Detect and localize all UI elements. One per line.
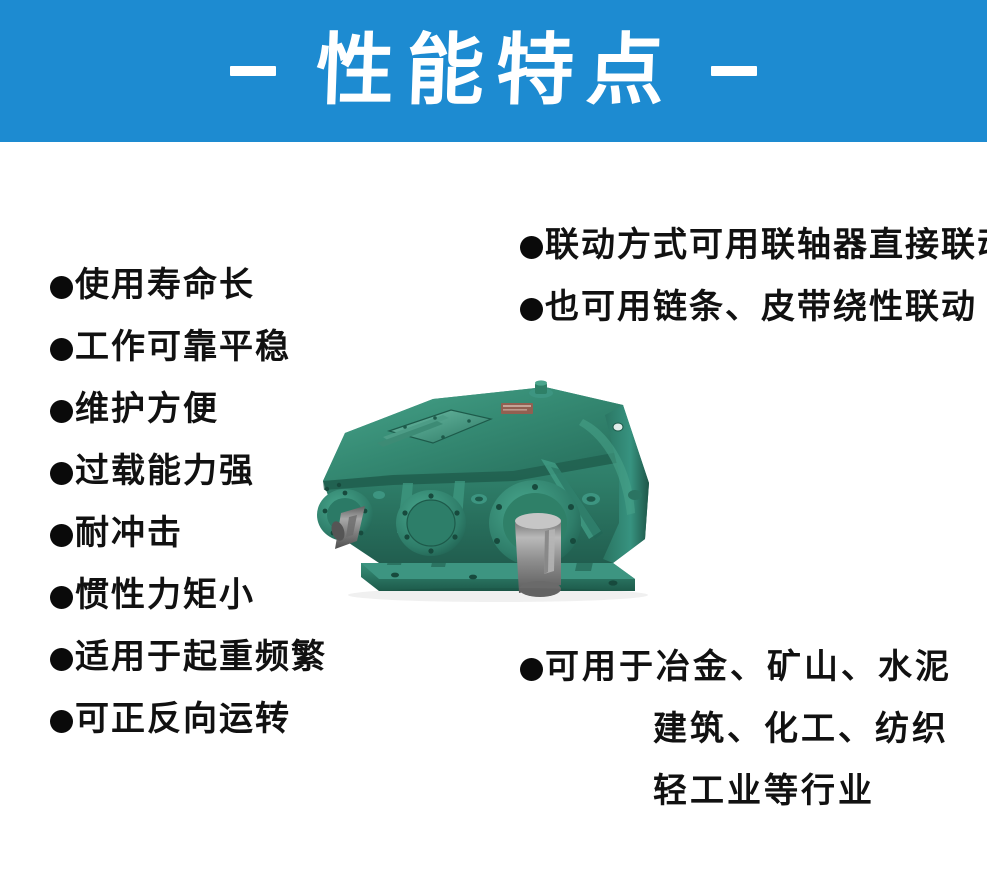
- feature-label: 惯性力矩小: [75, 578, 255, 612]
- gearbox-output-shaft: [515, 513, 561, 597]
- feature-label: 联动方式可用联轴器直接联动: [545, 228, 987, 262]
- gearbox-illustration: [283, 363, 683, 608]
- feature-label: 使用寿命长: [75, 268, 255, 302]
- bullet-icon: [520, 236, 543, 259]
- feature-label: 过载能力强: [75, 454, 255, 488]
- application-label: 轻工业等行业: [653, 774, 875, 808]
- bullet-icon: [50, 276, 73, 299]
- banner-dash-right: [711, 66, 757, 76]
- bullet-icon: [50, 524, 73, 547]
- bullet-icon: [50, 648, 73, 671]
- features-right-column: 联动方式可用联轴器直接联动 也可用链条、皮带绕性联动: [520, 228, 980, 348]
- feature-item: 维护方便: [50, 392, 219, 426]
- bullet-icon: [50, 338, 73, 361]
- bullet-icon: [50, 462, 73, 485]
- feature-item: 适用于起重频繁: [50, 640, 327, 674]
- feature-label: 可正反向运转: [75, 702, 291, 736]
- application-item: 可用于冶金、矿山、水泥: [520, 650, 952, 684]
- application-item: 建筑、化工、纺织: [653, 712, 949, 746]
- feature-label: 工作可靠平稳: [75, 330, 291, 364]
- page-title: 性能特点: [309, 32, 678, 110]
- feature-item: 也可用链条、皮带绕性联动: [520, 290, 977, 324]
- banner-dash-left: [230, 66, 276, 76]
- feature-item: 惯性力矩小: [50, 578, 255, 612]
- gearbox-housing: [323, 387, 649, 563]
- applications-block: 可用于冶金、矿山、水泥 建筑、化工、纺织 轻工业等行业: [520, 650, 980, 830]
- feature-label: 适用于起重频繁: [75, 640, 327, 674]
- bullet-icon: [520, 298, 543, 321]
- feature-label: 也可用链条、皮带绕性联动: [545, 290, 977, 324]
- banner-inner: 性能特点: [230, 32, 756, 110]
- application-label: 建筑、化工、纺织: [653, 712, 949, 746]
- feature-item: 耐冲击: [50, 516, 183, 550]
- gearbox-middle-cover: [396, 490, 466, 556]
- bullet-icon: [50, 400, 73, 423]
- application-item: 轻工业等行业: [653, 774, 875, 808]
- feature-item: 使用寿命长: [50, 268, 255, 302]
- feature-item: 过载能力强: [50, 454, 255, 488]
- feature-item: 联动方式可用联轴器直接联动: [520, 228, 987, 262]
- header-banner: 性能特点: [0, 0, 987, 142]
- feature-item: 工作可靠平稳: [50, 330, 291, 364]
- feature-label: 维护方便: [75, 392, 219, 426]
- feature-item: 可正反向运转: [50, 702, 291, 736]
- bullet-icon: [520, 658, 543, 681]
- feature-label: 耐冲击: [75, 516, 183, 550]
- application-label: 可用于冶金、矿山、水泥: [545, 650, 952, 684]
- bullet-icon: [50, 710, 73, 733]
- product-image-gearbox: [283, 363, 683, 608]
- bullet-icon: [50, 586, 73, 609]
